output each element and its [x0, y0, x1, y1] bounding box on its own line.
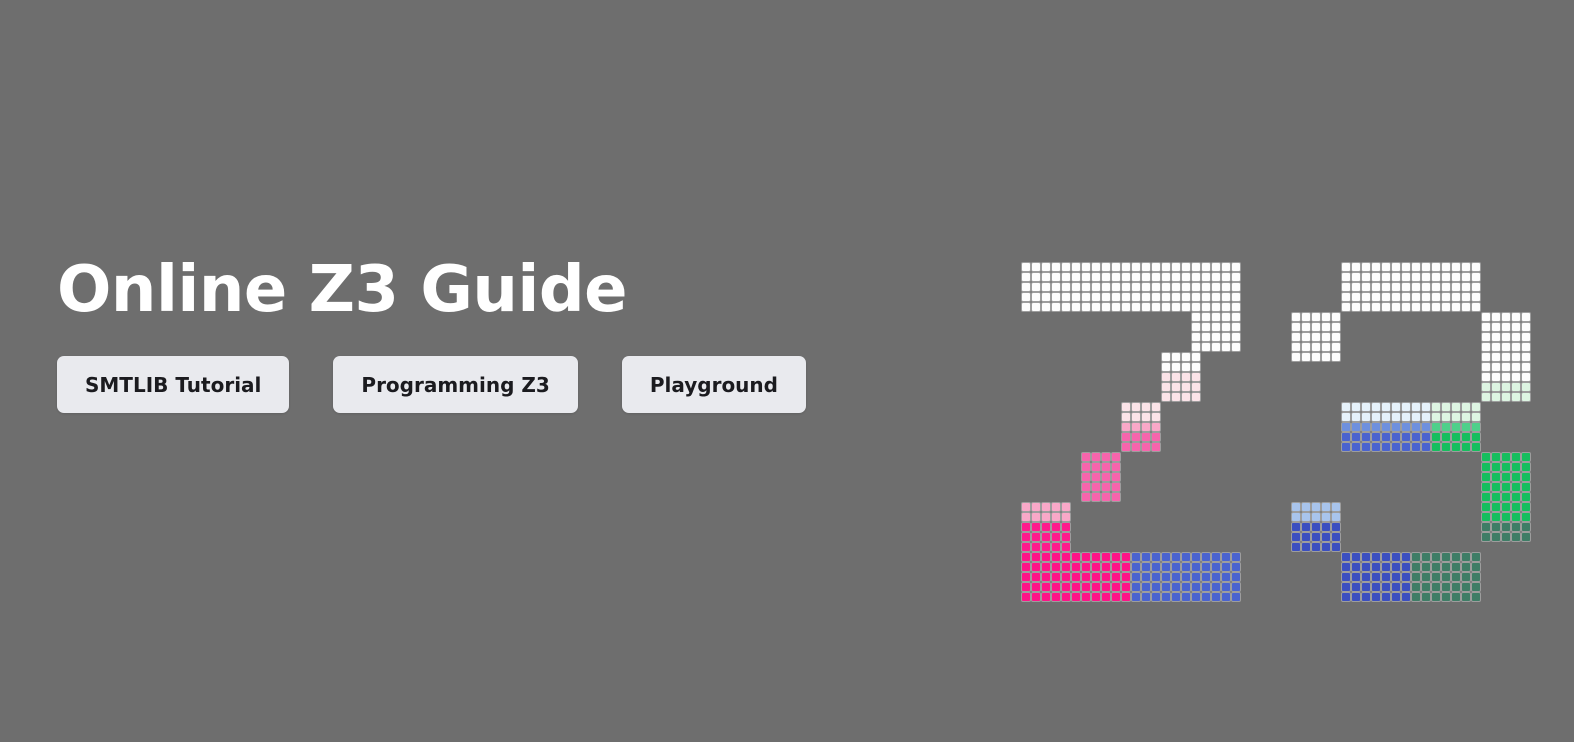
logo-pixel — [1191, 312, 1201, 322]
logo-pixel — [1401, 302, 1411, 312]
logo-pixel — [1071, 302, 1081, 312]
logo-pixel — [1041, 272, 1051, 282]
logo-pixel — [1071, 282, 1081, 292]
logo-pixel — [1381, 582, 1391, 592]
logo-pixel — [1471, 262, 1481, 272]
logo-pixel — [1111, 582, 1121, 592]
logo-pixel — [1311, 342, 1321, 352]
logo-pixel — [1411, 442, 1421, 452]
logo-pixel — [1361, 582, 1371, 592]
logo-pixel — [1411, 292, 1421, 302]
logo-pixel — [1101, 302, 1111, 312]
logo-pixel — [1301, 322, 1311, 332]
logo-pixel — [1351, 432, 1361, 442]
logo-pixel — [1421, 432, 1431, 442]
logo-pixel — [1131, 262, 1141, 272]
logo-pixel — [1491, 472, 1501, 482]
logo-pixel — [1461, 282, 1471, 292]
logo-pixel — [1381, 272, 1391, 282]
logo-pixel — [1451, 432, 1461, 442]
logo-pixel — [1031, 292, 1041, 302]
logo-pixel — [1421, 442, 1431, 452]
logo-pixel — [1291, 522, 1301, 532]
logo-pixel — [1111, 482, 1121, 492]
logo-pixel — [1291, 502, 1301, 512]
logo-pixel — [1441, 592, 1451, 602]
logo-pixel — [1111, 572, 1121, 582]
logo-pixel — [1151, 412, 1161, 422]
logo-pixel — [1511, 532, 1521, 542]
logo-pixel — [1201, 322, 1211, 332]
logo-pixel — [1351, 272, 1361, 282]
logo-pixel — [1081, 582, 1091, 592]
logo-pixel — [1231, 272, 1241, 282]
logo-pixel — [1521, 362, 1531, 372]
logo-pixel — [1331, 312, 1341, 322]
logo-pixel — [1151, 572, 1161, 582]
logo-pixel — [1351, 412, 1361, 422]
logo-pixel — [1391, 302, 1401, 312]
logo-pixel — [1511, 512, 1521, 522]
logo-pixel — [1431, 412, 1441, 422]
logo-pixel — [1061, 282, 1071, 292]
logo-pixel — [1161, 292, 1171, 302]
logo-pixel — [1491, 482, 1501, 492]
logo-pixel — [1211, 552, 1221, 562]
logo-pixel — [1381, 552, 1391, 562]
logo-pixel — [1111, 492, 1121, 502]
logo-pixel — [1191, 572, 1201, 582]
cta-button-row: SMTLIB Tutorial Programming Z3 Playgroun… — [57, 356, 977, 413]
logo-pixel — [1461, 272, 1471, 282]
logo-pixel — [1451, 442, 1461, 452]
logo-pixel — [1051, 592, 1061, 602]
logo-pixel — [1131, 402, 1141, 412]
logo-pixel — [1181, 282, 1191, 292]
logo-pixel — [1181, 572, 1191, 582]
logo-pixel — [1331, 502, 1341, 512]
logo-pixel — [1501, 492, 1511, 502]
logo-pixel — [1021, 592, 1031, 602]
logo-pixel — [1371, 262, 1381, 272]
logo-pixel — [1451, 402, 1461, 412]
logo-pixel — [1491, 502, 1501, 512]
logo-pixel — [1441, 412, 1451, 422]
logo-pixel — [1201, 272, 1211, 282]
logo-pixel — [1491, 512, 1501, 522]
logo-pixel — [1211, 262, 1221, 272]
logo-pixel — [1381, 282, 1391, 292]
logo-pixel — [1111, 552, 1121, 562]
logo-pixel — [1331, 332, 1341, 342]
logo-pixel — [1231, 282, 1241, 292]
logo-pixel — [1091, 552, 1101, 562]
logo-pixel — [1461, 262, 1471, 272]
logo-pixel — [1171, 352, 1181, 362]
logo-pixel — [1381, 262, 1391, 272]
logo-pixel — [1211, 562, 1221, 572]
logo-pixel — [1371, 582, 1381, 592]
logo-pixel — [1221, 302, 1231, 312]
logo-pixel — [1511, 312, 1521, 322]
logo-pixel — [1191, 582, 1201, 592]
logo-pixel — [1451, 302, 1461, 312]
logo-pixel — [1521, 462, 1531, 472]
logo-pixel — [1361, 402, 1371, 412]
logo-pixel — [1031, 512, 1041, 522]
logo-pixel — [1351, 442, 1361, 452]
logo-pixel — [1041, 512, 1051, 522]
logo-pixel — [1431, 432, 1441, 442]
logo-pixel — [1371, 412, 1381, 422]
logo-pixel — [1481, 312, 1491, 322]
logo-pixel — [1031, 262, 1041, 272]
logo-pixel — [1151, 302, 1161, 312]
logo-pixel — [1511, 452, 1521, 462]
logo-pixel — [1421, 582, 1431, 592]
logo-pixel — [1391, 432, 1401, 442]
logo-pixel — [1471, 412, 1481, 422]
logo-pixel — [1431, 302, 1441, 312]
logo-pixel — [1481, 482, 1491, 492]
logo-pixel — [1381, 302, 1391, 312]
logo-pixel — [1521, 502, 1531, 512]
logo-pixel — [1141, 592, 1151, 602]
logo-pixel — [1421, 572, 1431, 582]
logo-pixel — [1121, 262, 1131, 272]
logo-pixel — [1071, 272, 1081, 282]
logo-pixel — [1371, 552, 1381, 562]
logo-pixel — [1031, 532, 1041, 542]
logo-pixel — [1491, 312, 1501, 322]
logo-pixel — [1341, 582, 1351, 592]
logo-pixel — [1481, 342, 1491, 352]
logo-pixel — [1421, 272, 1431, 282]
logo-pixel — [1511, 372, 1521, 382]
logo-pixel — [1511, 482, 1521, 492]
logo-pixel — [1031, 582, 1041, 592]
logo-pixel — [1521, 472, 1531, 482]
logo-pixel — [1491, 462, 1501, 472]
logo-pixel — [1121, 272, 1131, 282]
logo-pixel — [1201, 562, 1211, 572]
logo-pixel — [1211, 272, 1221, 282]
logo-pixel — [1391, 422, 1401, 432]
logo-pixel — [1061, 302, 1071, 312]
logo-pixel — [1291, 532, 1301, 542]
logo-pixel — [1391, 572, 1401, 582]
logo-pixel — [1391, 592, 1401, 602]
logo-pixel — [1221, 342, 1231, 352]
logo-pixel — [1321, 332, 1331, 342]
logo-pixel — [1361, 282, 1371, 292]
logo-pixel — [1291, 512, 1301, 522]
logo-pixel — [1491, 342, 1501, 352]
playground-button[interactable]: Playground — [622, 356, 806, 413]
logo-pixel — [1361, 432, 1371, 442]
logo-pixel — [1431, 422, 1441, 432]
hero-text-block: Online Z3 Guide SMTLIB Tutorial Programm… — [57, 258, 977, 413]
logo-pixel — [1331, 322, 1341, 332]
logo-pixel — [1221, 582, 1231, 592]
logo-pixel — [1481, 492, 1491, 502]
logo-pixel — [1401, 582, 1411, 592]
logo-pixel — [1501, 512, 1511, 522]
logo-pixel — [1521, 322, 1531, 332]
logo-pixel — [1391, 412, 1401, 422]
logo-pixel — [1321, 322, 1331, 332]
logo-pixel — [1071, 572, 1081, 582]
logo-pixel — [1441, 442, 1451, 452]
logo-pixel — [1191, 292, 1201, 302]
logo-pixel — [1401, 562, 1411, 572]
logo-pixel — [1171, 292, 1181, 302]
logo-pixel — [1301, 312, 1311, 322]
logo-pixel — [1031, 522, 1041, 532]
logo-pixel — [1331, 542, 1341, 552]
logo-pixel — [1181, 302, 1191, 312]
logo-pixel — [1451, 272, 1461, 282]
logo-pixel — [1431, 582, 1441, 592]
logo-pixel — [1451, 262, 1461, 272]
logo-pixel — [1171, 262, 1181, 272]
logo-pixel — [1101, 482, 1111, 492]
logo-pixel — [1311, 332, 1321, 342]
logo-pixel — [1201, 552, 1211, 562]
logo-pixel — [1081, 592, 1091, 602]
logo-pixel — [1091, 472, 1101, 482]
logo-pixel — [1451, 292, 1461, 302]
logo-pixel — [1221, 562, 1231, 572]
logo-pixel — [1301, 332, 1311, 342]
logo-pixel — [1021, 572, 1031, 582]
logo-pixel — [1361, 562, 1371, 572]
logo-pixel — [1501, 352, 1511, 362]
smtlib-tutorial-button[interactable]: SMTLIB Tutorial — [57, 356, 289, 413]
logo-pixel — [1471, 282, 1481, 292]
logo-pixel — [1321, 502, 1331, 512]
logo-pixel — [1511, 392, 1521, 402]
logo-pixel — [1441, 572, 1451, 582]
logo-pixel — [1411, 592, 1421, 602]
logo-pixel — [1031, 562, 1041, 572]
logo-pixel — [1181, 362, 1191, 372]
logo-pixel — [1501, 462, 1511, 472]
logo-pixel — [1341, 552, 1351, 562]
logo-pixel — [1061, 532, 1071, 542]
logo-pixel — [1091, 302, 1101, 312]
logo-pixel — [1131, 432, 1141, 442]
logo-pixel — [1301, 342, 1311, 352]
logo-pixel — [1371, 282, 1381, 292]
logo-pixel — [1191, 552, 1201, 562]
logo-pixel — [1191, 342, 1201, 352]
logo-pixel — [1221, 292, 1231, 302]
logo-pixel — [1051, 292, 1061, 302]
logo-pixel — [1441, 302, 1451, 312]
logo-pixel — [1151, 292, 1161, 302]
logo-pixel — [1041, 552, 1051, 562]
logo-pixel — [1141, 272, 1151, 282]
logo-pixel — [1131, 442, 1141, 452]
logo-pixel — [1351, 572, 1361, 582]
logo-pixel — [1441, 402, 1451, 412]
logo-pixel — [1361, 302, 1371, 312]
logo-pixel — [1221, 282, 1231, 292]
logo-pixel — [1161, 362, 1171, 372]
logo-pixel — [1051, 302, 1061, 312]
logo-pixel — [1521, 352, 1531, 362]
logo-pixel — [1481, 532, 1491, 542]
logo-pixel — [1311, 352, 1321, 362]
logo-pixel — [1201, 292, 1211, 302]
logo-pixel — [1471, 292, 1481, 302]
logo-pixel — [1091, 572, 1101, 582]
logo-pixel — [1221, 592, 1231, 602]
logo-pixel — [1111, 452, 1121, 462]
logo-pixel — [1451, 562, 1461, 572]
logo-pixel — [1171, 582, 1181, 592]
logo-pixel — [1501, 312, 1511, 322]
logo-pixel — [1361, 552, 1371, 562]
logo-pixel — [1521, 532, 1531, 542]
logo-pixel — [1311, 512, 1321, 522]
logo-pixel — [1291, 322, 1301, 332]
logo-pixel — [1421, 302, 1431, 312]
logo-pixel — [1391, 272, 1401, 282]
logo-pixel — [1501, 322, 1511, 332]
logo-pixel — [1081, 472, 1091, 482]
logo-pixel — [1401, 272, 1411, 282]
logo-pixel — [1431, 572, 1441, 582]
logo-pixel — [1521, 392, 1531, 402]
logo-pixel — [1451, 422, 1461, 432]
logo-pixel — [1361, 572, 1371, 582]
logo-pixel — [1471, 302, 1481, 312]
logo-pixel — [1491, 322, 1501, 332]
logo-pixel — [1081, 492, 1091, 502]
logo-pixel — [1121, 592, 1131, 602]
logo-pixel — [1151, 272, 1161, 282]
logo-pixel — [1071, 582, 1081, 592]
logo-pixel — [1411, 572, 1421, 582]
logo-pixel — [1121, 422, 1131, 432]
logo-pixel — [1121, 292, 1131, 302]
logo-pixel — [1511, 332, 1521, 342]
logo-pixel — [1161, 562, 1171, 572]
logo-pixel — [1101, 272, 1111, 282]
logo-pixel — [1201, 302, 1211, 312]
logo-pixel — [1521, 522, 1531, 532]
logo-pixel — [1171, 552, 1181, 562]
logo-pixel — [1081, 302, 1091, 312]
logo-pixel — [1301, 352, 1311, 362]
logo-pixel — [1091, 492, 1101, 502]
logo-pixel — [1041, 302, 1051, 312]
logo-pixel — [1141, 422, 1151, 432]
logo-pixel — [1031, 542, 1041, 552]
logo-pixel — [1051, 582, 1061, 592]
logo-pixel — [1371, 442, 1381, 452]
logo-pixel — [1231, 582, 1241, 592]
logo-pixel — [1231, 342, 1241, 352]
logo-pixel — [1321, 532, 1331, 542]
logo-pixel — [1511, 502, 1521, 512]
logo-pixel — [1171, 372, 1181, 382]
logo-pixel — [1021, 562, 1031, 572]
logo-pixel — [1471, 552, 1481, 562]
logo-pixel — [1021, 292, 1031, 302]
logo-pixel — [1361, 272, 1371, 282]
logo-pixel — [1391, 282, 1401, 292]
logo-pixel — [1131, 552, 1141, 562]
logo-pixel — [1021, 522, 1031, 532]
logo-pixel — [1021, 532, 1031, 542]
logo-pixel — [1191, 322, 1201, 332]
logo-pixel — [1361, 442, 1371, 452]
logo-pixel — [1191, 262, 1201, 272]
logo-pixel — [1491, 532, 1501, 542]
logo-pixel — [1511, 352, 1521, 362]
logo-pixel — [1151, 552, 1161, 562]
logo-pixel — [1351, 402, 1361, 412]
logo-pixel — [1191, 592, 1201, 602]
logo-pixel — [1041, 542, 1051, 552]
logo-pixel — [1021, 502, 1031, 512]
logo-pixel — [1501, 372, 1511, 382]
logo-pixel — [1391, 582, 1401, 592]
logo-pixel — [1451, 582, 1461, 592]
logo-pixel — [1481, 472, 1491, 482]
logo-pixel — [1201, 282, 1211, 292]
logo-pixel — [1461, 402, 1471, 412]
logo-pixel — [1221, 272, 1231, 282]
logo-pixel — [1231, 332, 1241, 342]
logo-pixel — [1181, 352, 1191, 362]
logo-pixel — [1091, 282, 1101, 292]
logo-pixel — [1411, 272, 1421, 282]
logo-pixel — [1231, 302, 1241, 312]
logo-pixel — [1401, 402, 1411, 412]
logo-pixel — [1341, 262, 1351, 272]
logo-pixel — [1221, 262, 1231, 272]
logo-pixel — [1301, 512, 1311, 522]
logo-pixel — [1061, 562, 1071, 572]
logo-pixel — [1511, 492, 1521, 502]
logo-pixel — [1121, 442, 1131, 452]
logo-pixel — [1151, 592, 1161, 602]
logo-pixel — [1361, 592, 1371, 602]
logo-pixel — [1511, 362, 1521, 372]
logo-pixel — [1121, 412, 1131, 422]
logo-pixel — [1421, 422, 1431, 432]
logo-pixel — [1191, 362, 1201, 372]
logo-pixel — [1161, 282, 1171, 292]
logo-pixel — [1461, 292, 1471, 302]
logo-pixel — [1231, 572, 1241, 582]
logo-pixel — [1131, 292, 1141, 302]
logo-pixel — [1081, 462, 1091, 472]
logo-pixel — [1321, 342, 1331, 352]
programming-z3-button[interactable]: Programming Z3 — [333, 356, 577, 413]
logo-pixel — [1131, 282, 1141, 292]
logo-pixel — [1321, 542, 1331, 552]
logo-pixel — [1061, 552, 1071, 562]
logo-pixel — [1141, 302, 1151, 312]
logo-pixel — [1511, 472, 1521, 482]
logo-pixel — [1341, 592, 1351, 602]
logo-pixel — [1291, 312, 1301, 322]
